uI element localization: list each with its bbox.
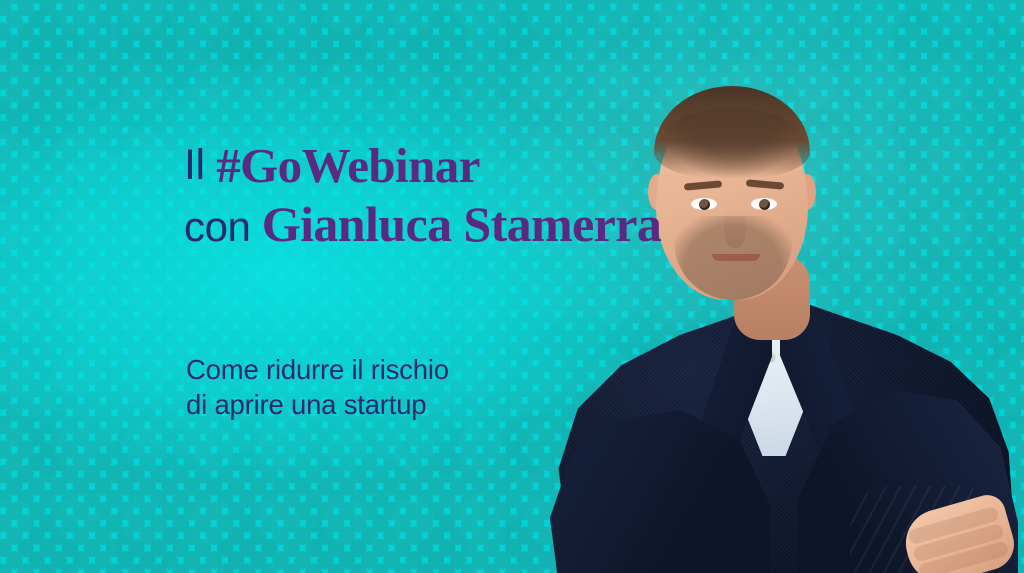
banner-copy: Il #GoWebinar con Gianluca Stamerra Come… xyxy=(0,0,1024,573)
headline-prefix-2: con xyxy=(184,203,262,250)
webinar-banner: Il #GoWebinar con Gianluca Stamerra Come… xyxy=(0,0,1024,573)
headline-prefix-1: Il xyxy=(184,141,216,189)
banner-subtitle: Come ridurre il rischio di aprire una st… xyxy=(186,352,449,422)
headline-line-2: con Gianluca Stamerra xyxy=(184,198,661,251)
banner-headline: Il #GoWebinar con Gianluca Stamerra xyxy=(184,140,661,251)
headline-hashtag: #GoWebinar xyxy=(216,138,480,193)
headline-line-1: Il #GoWebinar xyxy=(184,140,661,191)
subtitle-line-2: di aprire una startup xyxy=(186,387,449,422)
subtitle-line-1: Come ridurre il rischio xyxy=(186,352,449,387)
headline-speaker-name: Gianluca Stamerra xyxy=(262,196,661,252)
